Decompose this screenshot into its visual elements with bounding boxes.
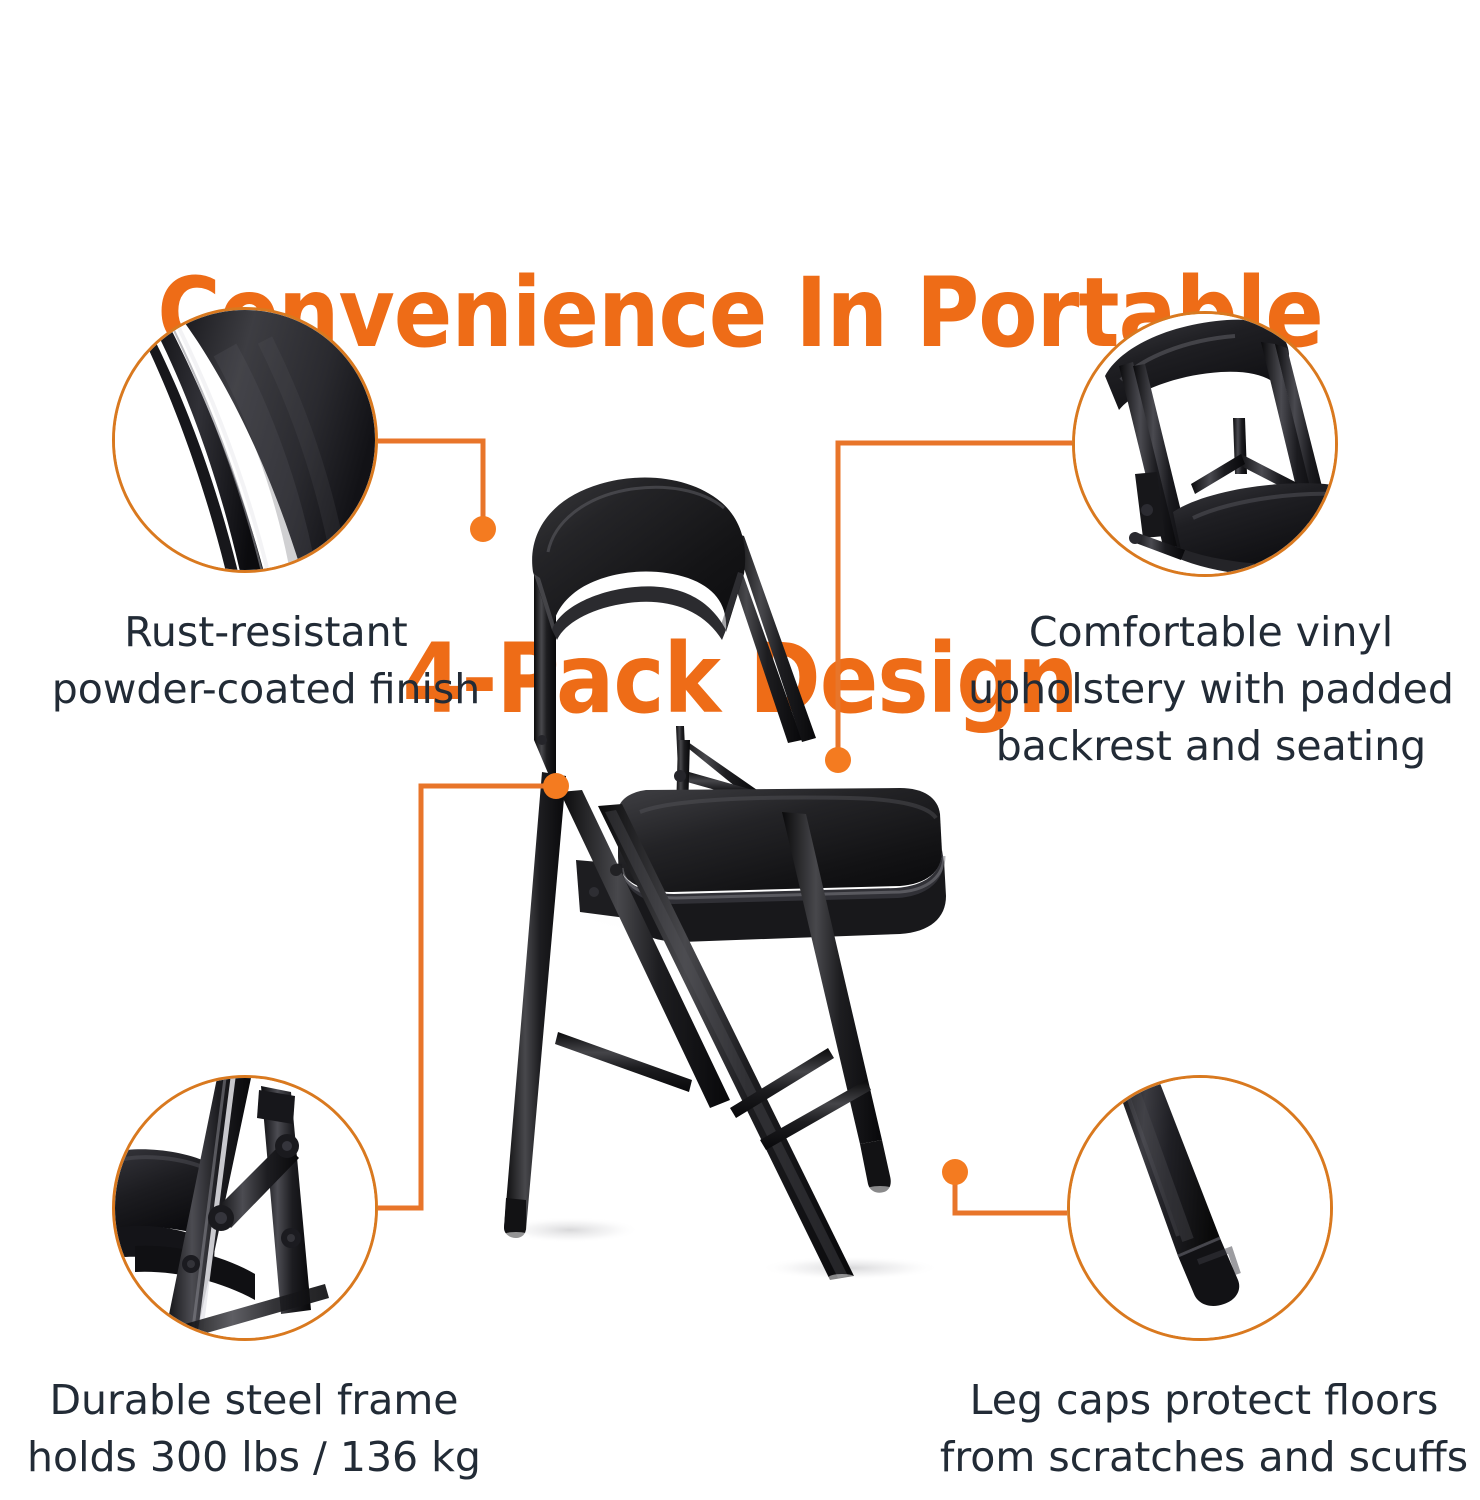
caption-line: Rust-resistant <box>0 604 536 661</box>
infographic-canvas: Convenience In Portable 4-Pack Design <box>0 0 1480 1500</box>
caption-line: upholstery with padded <box>938 661 1480 718</box>
caption-line: holds 300 lbs / 136 kg <box>0 1429 514 1486</box>
caption-line: from scratches and scuffs <box>926 1429 1480 1486</box>
callout-caption-vinyl-upholstery: Comfortable vinyl upholstery with padded… <box>938 604 1480 775</box>
detail-circle-powder-coated-finish <box>112 307 378 573</box>
caption-line: Durable steel frame <box>0 1372 514 1429</box>
caption-line: backrest and seating <box>938 718 1480 775</box>
callout-caption-leg-caps: Leg caps protect floors from scratches a… <box>926 1372 1480 1486</box>
caption-line: Comfortable vinyl <box>938 604 1480 661</box>
callout-caption-rust-resistant: Rust-resistant powder-coated finish <box>0 604 536 718</box>
detail-circle-steel-frame <box>112 1075 378 1341</box>
callout-caption-steel-frame: Durable steel frame holds 300 lbs / 136 … <box>0 1372 514 1486</box>
caption-line: Leg caps protect floors <box>926 1372 1480 1429</box>
product-image-folding-chair <box>430 440 1050 1280</box>
detail-circle-vinyl-upholstery <box>1072 311 1338 577</box>
detail-circle-leg-cap <box>1067 1075 1333 1341</box>
caption-line: powder-coated finish <box>0 661 536 718</box>
